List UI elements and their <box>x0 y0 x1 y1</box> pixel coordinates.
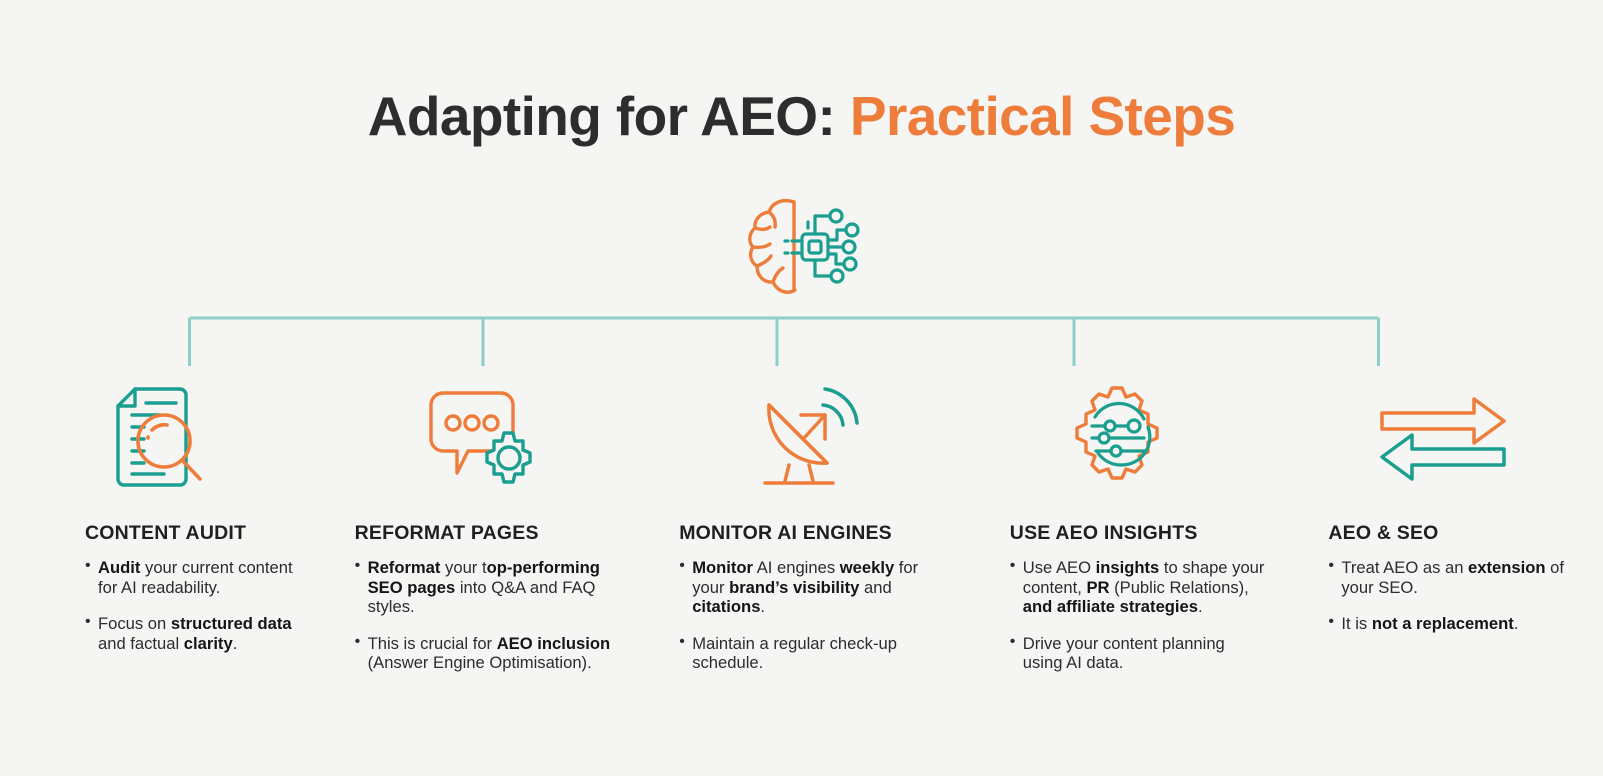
step-bullet-list: Treat AEO as an extension of your SEO. I… <box>1328 558 1587 634</box>
step-text-block: CONTENT AUDIT Audit your current content… <box>0 522 321 653</box>
list-item: Monitor AI engines weekly for your brand… <box>679 558 946 617</box>
step-heading: AEO & SEO <box>1328 522 1587 545</box>
step-bullet-list: Monitor AI engines weekly for your brand… <box>679 558 946 673</box>
list-item: It is not a replacement. <box>1328 614 1587 634</box>
step-column-reformat-pages: REFORMAT PAGES Reformat your top-perform… <box>321 382 642 712</box>
step-heading: USE AEO INSIGHTS <box>1010 522 1267 545</box>
speech-bubble-gear-icon <box>321 382 642 492</box>
step-bullet-list: Use AEO insights to shape your content, … <box>1010 558 1267 673</box>
step-column-monitor-ai-engines: MONITOR AI ENGINES Monitor AI engines we… <box>641 382 962 712</box>
step-bullet-list: Reformat your top-performing SEO pages i… <box>355 558 624 673</box>
step-column-content-audit: CONTENT AUDIT Audit your current content… <box>0 382 321 712</box>
step-column-use-aeo-insights: USE AEO INSIGHTS Use AEO insights to sha… <box>962 382 1283 712</box>
list-item: Focus on structured data and factual cla… <box>85 614 301 653</box>
ai-brain-chip-icon <box>742 190 862 302</box>
list-item: This is crucial for AEO inclusion (Answe… <box>355 634 624 673</box>
list-item: Audit your current content for AI readab… <box>85 558 301 597</box>
list-item: Treat AEO as an extension of your SEO. <box>1328 558 1587 597</box>
list-item: Drive your content planning using AI dat… <box>1010 634 1267 673</box>
step-column-aeo-and-seo: AEO & SEO Treat AEO as an extension of y… <box>1282 382 1603 712</box>
step-bullet-list: Audit your current content for AI readab… <box>85 558 301 653</box>
page-title-accent: Practical Steps <box>850 85 1235 147</box>
document-magnifier-icon <box>0 382 321 492</box>
step-text-block: MONITOR AI ENGINES Monitor AI engines we… <box>641 522 962 673</box>
step-heading: CONTENT AUDIT <box>85 522 301 545</box>
connector-bracket <box>188 316 1380 368</box>
step-text-block: REFORMAT PAGES Reformat your top-perform… <box>321 522 642 673</box>
list-item: Use AEO insights to shape your content, … <box>1010 558 1267 617</box>
step-text-block: AEO & SEO Treat AEO as an extension of y… <box>1282 522 1603 634</box>
step-heading: REFORMAT PAGES <box>355 522 624 545</box>
steps-columns: CONTENT AUDIT Audit your current content… <box>0 382 1603 712</box>
list-item: Maintain a regular check-up schedule. <box>679 634 946 673</box>
list-item: Reformat your top-performing SEO pages i… <box>355 558 624 617</box>
step-text-block: USE AEO INSIGHTS Use AEO insights to sha… <box>962 522 1283 673</box>
step-heading: MONITOR AI ENGINES <box>679 522 946 545</box>
page-title-dark: Adapting for AEO: <box>368 85 850 147</box>
page-title: Adapting for AEO: Practical Steps <box>0 84 1603 148</box>
two-way-arrows-icon <box>1282 382 1603 492</box>
gear-network-insights-icon <box>962 382 1283 492</box>
satellite-dish-signal-icon <box>641 382 962 492</box>
